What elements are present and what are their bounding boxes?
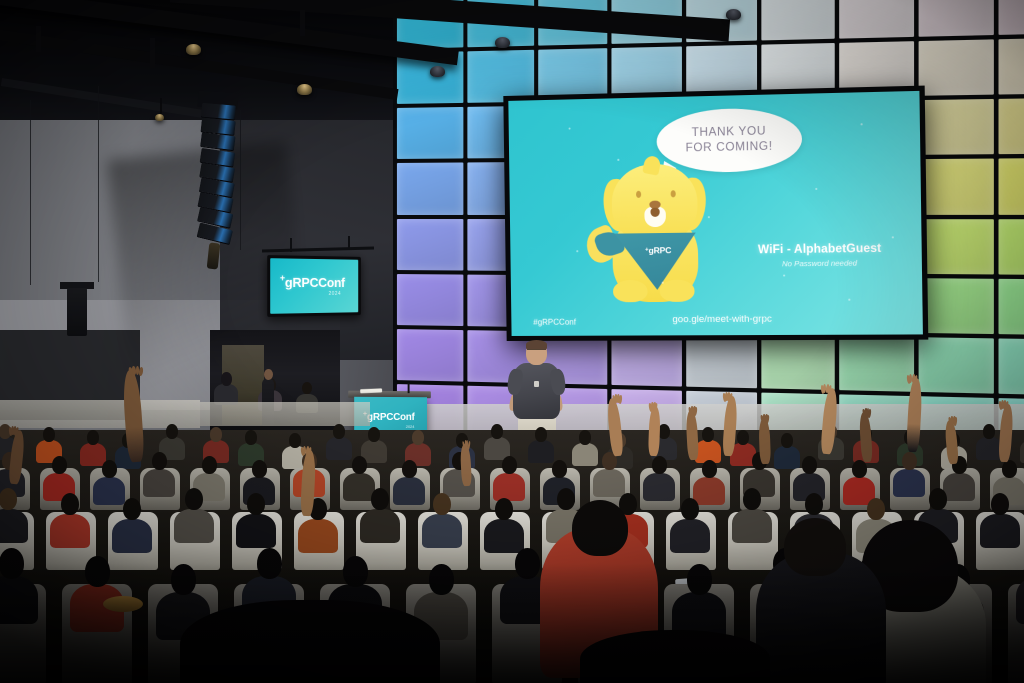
attendee-head xyxy=(802,456,817,474)
audience-member xyxy=(493,456,525,498)
screen-sparkle xyxy=(752,146,754,148)
lectern-logo-text: gRPCConf xyxy=(367,412,415,423)
audience-member xyxy=(732,488,772,540)
attendee-head xyxy=(210,427,222,442)
attendee-head xyxy=(289,433,301,448)
lectern-microphone xyxy=(408,383,410,393)
attendee-head xyxy=(87,430,99,445)
stage-spotlight xyxy=(726,9,741,20)
led-panel xyxy=(397,329,463,382)
attendee-head xyxy=(368,427,380,442)
monitor-pole xyxy=(290,238,292,252)
audience-member xyxy=(214,372,238,403)
attendee-shoulders xyxy=(174,509,214,543)
main-screen-surface: THANK YOU FOR COMING! + xyxy=(508,91,923,336)
main-projection-screen: THANK YOU FOR COMING! + xyxy=(503,86,928,341)
attendee-head xyxy=(572,500,628,556)
mascot-foot-left xyxy=(613,280,648,303)
lectern-year: 2024 xyxy=(406,424,415,429)
led-panel xyxy=(686,333,758,388)
grpc-tick-icon: + xyxy=(280,273,285,282)
side-monitor-logo-text: gRPCConf xyxy=(285,274,345,289)
attendee-head xyxy=(123,498,141,520)
monitor-pole xyxy=(348,236,350,250)
attendee-head xyxy=(552,460,567,478)
led-panel xyxy=(918,219,994,274)
attendee-head xyxy=(166,424,178,439)
audience-member xyxy=(793,456,825,498)
attendee-head xyxy=(402,460,417,478)
led-panel xyxy=(999,158,1024,214)
audience-member xyxy=(843,460,875,502)
audience-member xyxy=(112,498,152,550)
side-monitor-screen: + gRPCConf 2024 xyxy=(270,258,358,314)
attendee-shoulders xyxy=(0,576,38,623)
led-panel xyxy=(397,107,463,159)
attendee-head xyxy=(1002,460,1017,478)
audience-member xyxy=(695,427,721,461)
attendee-head xyxy=(245,430,257,445)
attendee-head xyxy=(433,493,451,515)
led-panel xyxy=(762,0,835,41)
conference-photo: + gRPCConf 2024 THANK YOU FOR COMING! xyxy=(0,0,1024,683)
attendee-head xyxy=(652,456,667,474)
attendee-head xyxy=(352,456,367,474)
audience-member xyxy=(80,430,106,464)
audience-member xyxy=(528,427,554,461)
attendee-head xyxy=(43,427,55,442)
screen-sparkle xyxy=(662,282,664,284)
attendee-head xyxy=(333,424,345,439)
attendee-shoulders xyxy=(980,514,1020,548)
audience-member xyxy=(326,424,352,458)
attendee-shoulders xyxy=(732,509,772,543)
led-panel xyxy=(918,0,994,37)
led-panel xyxy=(397,163,463,215)
led-panel xyxy=(999,0,1024,35)
led-panel xyxy=(999,278,1024,335)
audience-member xyxy=(143,452,175,494)
attendee-head xyxy=(185,488,203,510)
attendee-silhouette xyxy=(180,600,440,683)
attendee-head xyxy=(252,460,267,478)
event-hashtag: #gRPCConf xyxy=(533,318,576,327)
attendee-head xyxy=(852,460,867,478)
attendee-head xyxy=(202,456,217,474)
back-table xyxy=(200,402,370,426)
attendee-head xyxy=(983,424,995,439)
attendee-head xyxy=(737,430,749,445)
attendee-head xyxy=(171,564,196,595)
screen-sparkle xyxy=(848,299,850,301)
attendee-shoulders xyxy=(236,514,276,548)
screen-sparkle xyxy=(708,216,710,218)
side-monitor-logo: + gRPCConf xyxy=(285,275,345,288)
audience-member xyxy=(236,493,276,545)
stage-spotlight xyxy=(155,114,164,121)
attendee-head xyxy=(702,427,714,442)
attendee-head xyxy=(61,493,79,515)
attendee-shoulders xyxy=(1016,576,1024,623)
raised-hand xyxy=(648,406,661,456)
mascot-foot-right xyxy=(660,279,695,302)
wifi-ssid-label: WiFi - AlphabetGuest xyxy=(731,242,909,256)
attendee-shoulders xyxy=(112,519,152,553)
attendee-head xyxy=(412,430,424,445)
mascot-eye-right xyxy=(671,190,676,197)
led-panel xyxy=(999,219,1024,275)
grpc-puppy-mascot: +gRPC xyxy=(591,153,715,307)
audience-member xyxy=(43,456,75,498)
attendee-shoulders xyxy=(422,514,462,548)
attendee-silhouette xyxy=(580,630,770,683)
attendee-head xyxy=(687,564,712,595)
attendee-head xyxy=(429,564,454,595)
short-url-link: goo.gle/meet-with-grpc xyxy=(672,314,772,326)
attendee-head xyxy=(302,382,312,394)
attendee-head xyxy=(0,488,17,510)
attendee-head xyxy=(902,452,917,470)
audience-member xyxy=(643,456,675,498)
led-panel xyxy=(918,159,994,214)
speaker-glasses xyxy=(527,349,546,352)
led-panel xyxy=(397,219,463,271)
led-panel xyxy=(839,336,914,392)
attendee-head xyxy=(257,548,282,579)
stage-spotlight xyxy=(430,66,445,77)
attendee-head xyxy=(515,548,540,579)
audience-member xyxy=(980,493,1020,545)
attendee-head xyxy=(495,498,513,520)
attendee-shoulders xyxy=(360,509,400,543)
screen-sparkle xyxy=(617,159,619,161)
attendee-head xyxy=(929,488,947,510)
stage-spotlight xyxy=(186,44,201,55)
audience-member xyxy=(593,452,625,494)
audience-member xyxy=(0,488,28,540)
led-panel xyxy=(918,99,994,155)
attendee-head xyxy=(0,548,24,579)
mascot-eye-left xyxy=(636,191,641,198)
truss-support xyxy=(150,38,155,68)
led-panel xyxy=(397,274,463,326)
mascot-bandana-label: +gRPC xyxy=(638,245,679,256)
audience-member xyxy=(238,430,264,464)
side-monitor-year: 2024 xyxy=(329,290,341,296)
attendee-head xyxy=(85,556,110,587)
mascot-mouth xyxy=(650,208,659,217)
attendee-head xyxy=(371,488,389,510)
audience-member xyxy=(422,493,462,545)
speaker-badge xyxy=(534,381,539,387)
wooden-stool xyxy=(103,596,143,612)
screen-sparkle xyxy=(815,188,817,190)
attendee-head xyxy=(343,556,368,587)
audience-member xyxy=(405,430,431,464)
attendee-shoulders xyxy=(493,473,525,501)
hanging-wire xyxy=(30,100,31,285)
led-panel xyxy=(918,39,994,96)
audience-member xyxy=(670,498,710,550)
attendee-head xyxy=(743,488,761,510)
bubble-line-1: THANK YOU xyxy=(692,125,767,142)
wifi-password-note: No Password needed xyxy=(731,258,909,269)
audience-member xyxy=(976,424,1002,458)
screen-sparkle xyxy=(576,250,578,252)
audience-member xyxy=(1020,427,1024,461)
truss-support xyxy=(36,26,41,52)
hanging-wire xyxy=(240,110,241,250)
screen-sparkle xyxy=(861,123,863,125)
attendee-shoulders xyxy=(643,473,675,501)
attendee-shoulders xyxy=(50,514,90,548)
attendee-head xyxy=(784,518,846,576)
audience-member xyxy=(50,493,90,545)
standing-attendee-head xyxy=(264,369,273,380)
attendee-head xyxy=(781,433,793,448)
attendee-shoulders xyxy=(298,519,338,553)
led-panel xyxy=(839,0,914,39)
attendee-shoulders xyxy=(0,509,28,543)
audience-member xyxy=(484,424,510,458)
audience-member xyxy=(484,498,524,550)
led-panel xyxy=(999,338,1024,395)
attendee-head xyxy=(991,493,1009,515)
screen-sparkle xyxy=(783,274,785,276)
audience-member xyxy=(1016,548,1024,619)
speaker-hair xyxy=(526,340,547,349)
attendee-shoulders xyxy=(143,469,175,497)
audience-member xyxy=(360,488,400,540)
mascot-bandana-text: gRPC xyxy=(648,245,671,255)
side-wall-monitor: + gRPCConf 2024 xyxy=(267,255,361,317)
audience-member xyxy=(693,460,725,502)
audience-member xyxy=(70,556,124,627)
screen-sparkle xyxy=(892,236,894,238)
led-panel xyxy=(999,98,1024,155)
audience-member xyxy=(0,548,38,619)
lectern-logo: + gRPCConf xyxy=(367,413,415,423)
attendee-head xyxy=(681,498,699,520)
attendee-head xyxy=(152,452,167,470)
attendee-head xyxy=(579,430,591,445)
led-panel xyxy=(999,38,1024,95)
attendee-head xyxy=(52,456,67,474)
attendee-head xyxy=(702,460,717,478)
attendee-head xyxy=(491,424,503,439)
truss-support xyxy=(300,10,305,36)
led-panel xyxy=(918,278,994,334)
attendee-head xyxy=(221,372,232,386)
mascot-hair-tuft xyxy=(642,155,662,176)
attendee-shoulders xyxy=(976,437,1002,459)
led-panel xyxy=(762,334,835,389)
attendee-head xyxy=(557,488,575,510)
audience-member xyxy=(93,460,125,502)
led-panel xyxy=(918,337,994,394)
attendee-head xyxy=(805,493,823,515)
screen-sparkle xyxy=(569,128,571,130)
attendee-head xyxy=(535,427,547,442)
hanging-wire xyxy=(98,86,99,282)
attendee-shoulders xyxy=(670,519,710,553)
stage-spotlight xyxy=(297,84,312,95)
attendee-head xyxy=(867,498,885,520)
audience-member xyxy=(672,564,726,635)
wall-mounted-speaker xyxy=(67,288,87,336)
attendee-head xyxy=(247,493,265,515)
stage-spotlight xyxy=(495,37,510,48)
attendee-head xyxy=(102,460,117,478)
attendee-head xyxy=(502,456,517,474)
audience-member xyxy=(174,488,214,540)
